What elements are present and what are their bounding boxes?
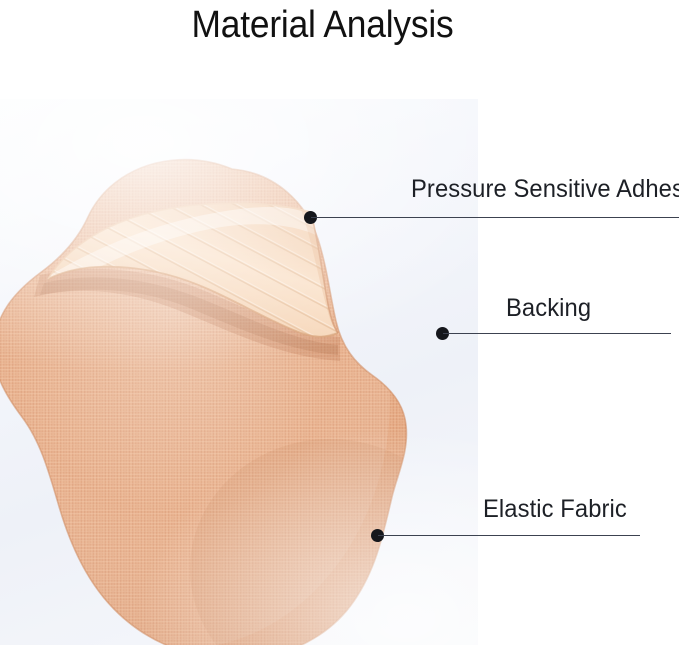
callout-line-backing xyxy=(443,333,671,334)
callout-label-pressure-sensitive-adhesive: Pressure Sensitive Adhesive xyxy=(411,174,679,204)
callout-label-elastic-fabric: Elastic Fabric xyxy=(483,494,627,524)
callout-line-elastic-fabric xyxy=(378,535,640,536)
material-analysis-figure: Material Analysis xyxy=(0,0,679,645)
bandage-illustration xyxy=(0,99,478,645)
callout-line-pressure-sensitive-adhesive xyxy=(311,217,679,218)
bandage-product-photo xyxy=(0,99,478,645)
callout-label-backing: Backing xyxy=(506,293,591,323)
page-title: Material Analysis xyxy=(23,2,623,48)
